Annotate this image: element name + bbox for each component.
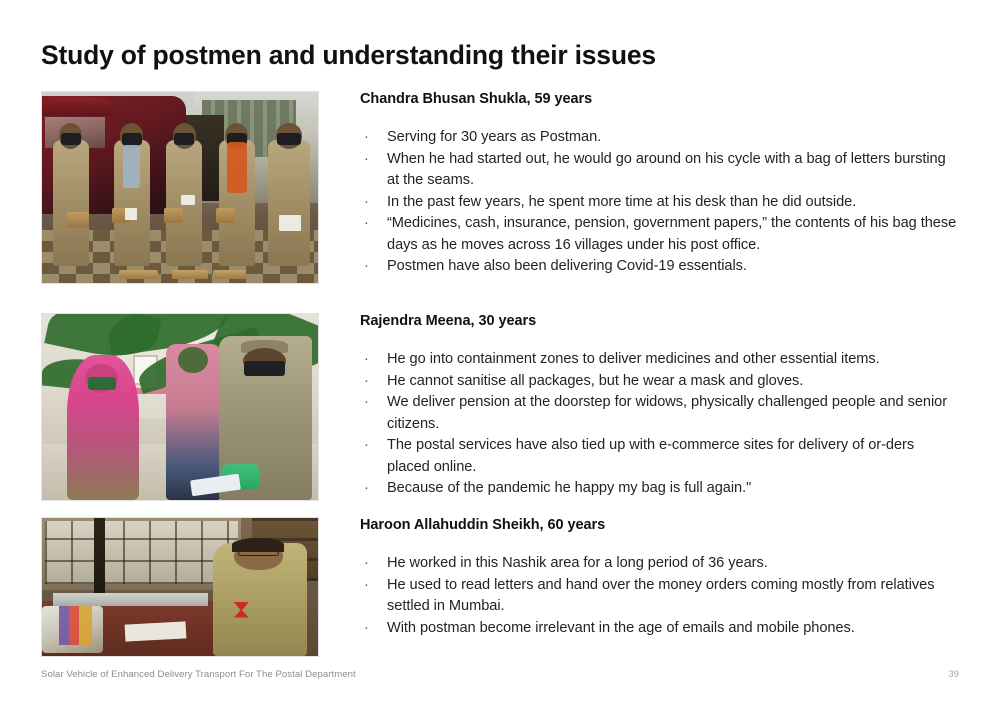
support-post (94, 518, 105, 595)
bullet-icon: · (364, 618, 369, 640)
face-mask (244, 361, 285, 376)
face-mask (88, 377, 115, 390)
woman-figure (67, 355, 139, 500)
photo-column (41, 313, 319, 501)
text-column: Rajendra Meena, 30 years ·He go into con… (319, 313, 959, 500)
bullet-icon: · (364, 392, 369, 414)
face-mask (277, 133, 300, 144)
list-item-text: In the past few years, he spent more tim… (387, 194, 856, 210)
list-item: ·He worked in this Nashik area for a lon… (360, 553, 959, 575)
neck-scarf (123, 145, 140, 188)
bullet-list: ·He go into containment zones to deliver… (360, 349, 959, 500)
postman-figure (213, 543, 307, 656)
list-item-text: Because of the pandemic he happy my bag … (387, 480, 751, 496)
bullet-icon: · (364, 256, 369, 278)
slide: Study of postmen and understanding their… (0, 0, 1000, 708)
list-item: ·Serving for 30 years as Postman. (360, 127, 959, 149)
list-item: ·With postman become irrelevant in the a… (360, 618, 959, 640)
list-item-text: He worked in this Nashik area for a long… (387, 555, 768, 571)
postman-figure (166, 140, 202, 266)
person-name: Chandra Bhusan Shukla, 59 years (360, 91, 959, 107)
list-item: ·We deliver pension at the doorstep for … (360, 392, 959, 435)
list-item: ·“Medicines, cash, insurance, pension, g… (360, 213, 959, 256)
bullet-icon: · (364, 192, 369, 214)
postman-figure (114, 140, 150, 266)
postmen-loading-van-photo (41, 91, 319, 284)
pigeonhole-cubbies (45, 521, 238, 584)
ground-parcel (119, 270, 158, 280)
sack-stripe (59, 606, 92, 645)
list-item-text: The postal services have also tied up wi… (387, 437, 914, 475)
letter-packet (279, 215, 301, 230)
person-section: Chandra Bhusan Shukla, 59 years ·Serving… (41, 91, 959, 284)
face-mask (174, 133, 194, 144)
list-item: ·In the past few years, he spent more ti… (360, 192, 959, 214)
page-title: Study of postmen and understanding their… (41, 40, 656, 71)
list-item-text: Postmen have also been delivering Covid-… (387, 258, 747, 274)
list-item: ·Because of the pandemic he happy my bag… (360, 478, 959, 500)
bullet-icon: · (364, 149, 369, 171)
bullet-icon: · (364, 371, 369, 393)
list-item: ·He used to read letters and hand over t… (360, 575, 959, 618)
orange-shawl (227, 142, 247, 192)
list-item-text: Serving for 30 years as Postman. (387, 129, 601, 145)
bullet-list: ·Serving for 30 years as Postman. ·When … (360, 127, 959, 278)
bullet-icon: · (364, 127, 369, 149)
postman-figure (53, 140, 89, 266)
postman-figure (219, 140, 255, 266)
bullet-list: ·He worked in this Nashik area for a lon… (360, 553, 959, 639)
bullet-icon: · (364, 213, 369, 235)
list-item: ·He go into containment zones to deliver… (360, 349, 959, 371)
list-item: ·He cannot sanitise all packages, but he… (360, 371, 959, 393)
bullet-icon: · (364, 478, 369, 500)
postman-delivering-to-woman-photo (41, 313, 319, 501)
photo-column (41, 91, 319, 284)
parcel (67, 212, 89, 228)
letter-packet (125, 208, 137, 221)
ground-parcel (172, 270, 208, 280)
india-post-badge (234, 602, 249, 618)
footer-caption: Solar Vehicle of Enhanced Delivery Trans… (41, 669, 356, 680)
bullet-icon: · (364, 349, 369, 371)
bullet-icon: · (364, 575, 369, 597)
person-name: Rajendra Meena, 30 years (360, 313, 959, 329)
bullet-icon: · (364, 553, 369, 575)
hair (232, 538, 285, 552)
list-item-text: We deliver pension at the doorstep for w… (387, 394, 947, 432)
postman-at-sorting-desk-photo (41, 517, 319, 657)
list-item: ·When he had started out, he would go ar… (360, 149, 959, 192)
photo-column (41, 517, 319, 657)
page-number: 39 (948, 669, 959, 680)
person-section: Haroon Allahuddin Sheikh, 60 years ·He w… (41, 517, 959, 657)
face-mask (61, 133, 81, 144)
person-name: Haroon Allahuddin Sheikh, 60 years (360, 517, 959, 533)
list-item-text: With postman become irrelevant in the ag… (387, 620, 855, 636)
bullet-icon: · (364, 435, 369, 457)
text-column: Haroon Allahuddin Sheikh, 60 years ·He w… (319, 517, 959, 639)
stacked-papers (53, 593, 208, 607)
face-mask (122, 133, 142, 144)
text-column: Chandra Bhusan Shukla, 59 years ·Serving… (319, 91, 959, 278)
list-item: ·Postmen have also been delivering Covid… (360, 256, 959, 278)
list-item-text: “Medicines, cash, insurance, pension, go… (387, 215, 956, 253)
list-item-text: He go into containment zones to deliver … (387, 351, 880, 367)
list-item-text: When he had started out, he would go aro… (387, 151, 946, 189)
ground-parcel (213, 270, 246, 280)
head (178, 347, 208, 374)
eyeglasses (238, 551, 279, 557)
van-hatch (41, 97, 114, 116)
list-item: ·The postal services have also tied up w… (360, 435, 959, 478)
parcel (164, 208, 183, 223)
list-item-text: He cannot sanitise all packages, but he … (387, 373, 803, 389)
letter-on-desk (124, 621, 186, 641)
postman-figure (268, 140, 309, 266)
content-area: Chandra Bhusan Shukla, 59 years ·Serving… (41, 91, 959, 657)
parcel (216, 208, 235, 223)
person-section: Rajendra Meena, 30 years ·He go into con… (41, 313, 959, 501)
letter-packet (181, 195, 195, 205)
list-item-text: He used to read letters and hand over th… (387, 577, 934, 615)
postman-figure (219, 336, 313, 500)
